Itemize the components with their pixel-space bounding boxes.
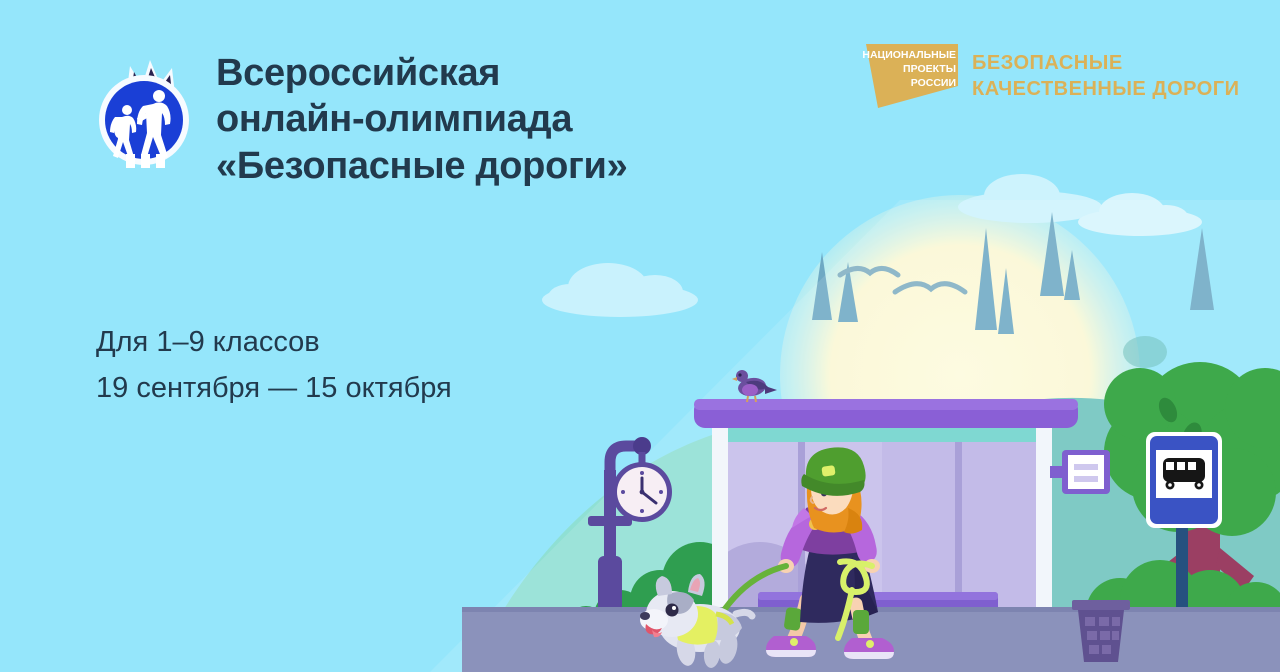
promo-banner: Всероссийская онлайн-олимпиада «Безопасн…: [0, 0, 1280, 672]
logo-crosswalk: [126, 154, 165, 168]
brand-block: Всероссийская онлайн-олимпиада «Безопасн…: [96, 50, 627, 189]
page-title: Всероссийская онлайн-олимпиада «Безопасн…: [216, 50, 627, 189]
flag-line-3: РОССИИ: [911, 77, 956, 89]
title-line-2: онлайн-олимпиада: [216, 96, 627, 142]
slogan-line-1: БЕЗОПАСНЫЕ: [972, 50, 1239, 76]
national-projects-flag-icon: НАЦИОНАЛЬНЫЕ ПРОЕКТЫ РОССИИ: [862, 42, 962, 110]
flag-line-1: НАЦИОНАЛЬНЫЕ: [862, 49, 956, 61]
slogan-line-2: КАЧЕСТВЕННЫЕ ДОРОГИ: [972, 76, 1239, 102]
info-block: Для 1–9 классов 19 сентября — 15 октября: [96, 320, 452, 412]
title-line-1: Всероссийская: [216, 50, 627, 96]
national-projects-block: НАЦИОНАЛЬНЫЕ ПРОЕКТЫ РОССИИ БЕЗОПАСНЫЕ К…: [862, 42, 1239, 110]
dates-text: 19 сентября — 15 октября: [96, 366, 452, 412]
title-line-3: «Безопасные дороги»: [216, 143, 627, 189]
national-projects-slogan: БЕЗОПАСНЫЕ КАЧЕСТВЕННЫЕ ДОРОГИ: [972, 42, 1239, 103]
text-overlay: Всероссийская онлайн-олимпиада «Безопасн…: [0, 0, 1280, 672]
olympiad-logo: [96, 58, 194, 170]
flag-line-2: ПРОЕКТЫ: [903, 63, 956, 75]
grades-text: Для 1–9 классов: [96, 320, 452, 366]
